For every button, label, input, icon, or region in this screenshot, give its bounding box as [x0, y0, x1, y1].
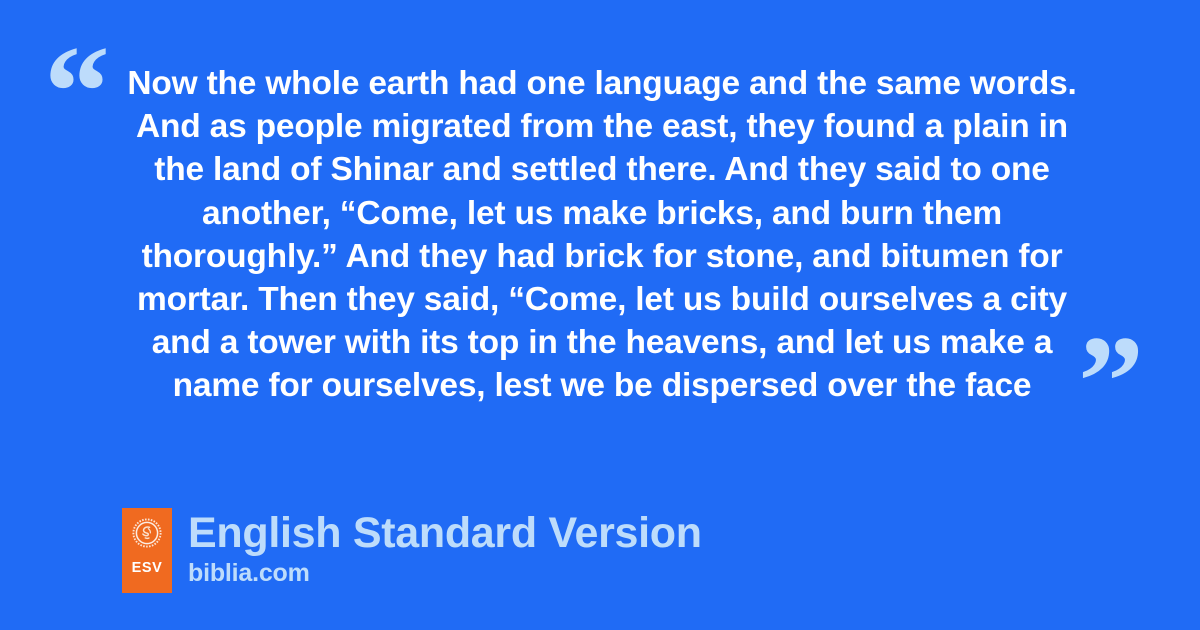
opening-quote-icon: “: [44, 26, 108, 158]
quote-line: and a tower with its top in the heavens,…: [118, 321, 1086, 364]
esv-logo-badge: ESV: [122, 508, 172, 593]
quote-line: mortar. Then they said, “Come, let us bu…: [118, 278, 1086, 321]
quote-line: name for ourselves, lest we be dispersed…: [118, 364, 1086, 407]
quote-line: another, “Come, let us make bricks, and …: [118, 192, 1086, 235]
quote-line: Now the whole earth had one language and…: [118, 62, 1086, 105]
esv-abbreviation-label: ESV: [132, 561, 163, 576]
quote-line: thoroughly.” And they had brick for ston…: [118, 235, 1086, 278]
quote-line: And as people migrated from the east, th…: [118, 105, 1086, 148]
attribution-footer: ESV English Standard Version biblia.com: [122, 508, 702, 593]
bible-version-title: English Standard Version: [188, 509, 702, 557]
quote-text-block: Now the whole earth had one language and…: [118, 62, 1086, 408]
esv-seal-icon: [132, 518, 162, 548]
closing-quote-icon: ”: [1078, 316, 1142, 448]
attribution-text-block: English Standard Version biblia.com: [188, 508, 702, 588]
verse-quote-card: “ ” Now the whole earth had one language…: [0, 0, 1200, 630]
source-website-label: biblia.com: [188, 558, 702, 588]
quote-line: the land of Shinar and settled there. An…: [118, 148, 1086, 191]
